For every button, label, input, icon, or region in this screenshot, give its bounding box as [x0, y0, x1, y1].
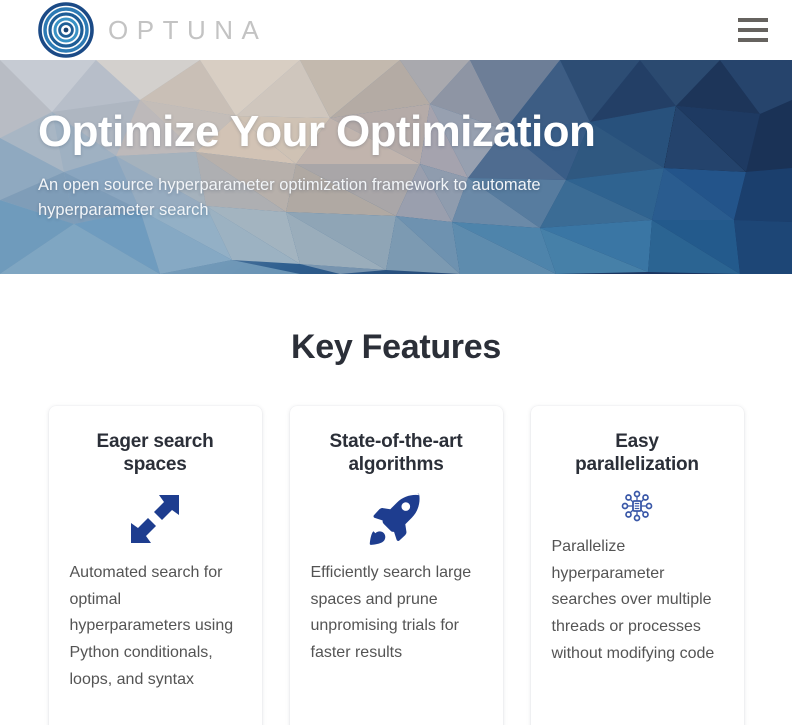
site-header: OPTUNA — [0, 0, 792, 60]
hamburger-bar-1 — [738, 18, 768, 22]
network-nodes-icon — [552, 486, 723, 526]
feature-card-title: Eager search spaces — [70, 430, 241, 476]
key-features-section: Key Features Eager search spaces Automat… — [0, 274, 792, 725]
hamburger-bar-3 — [738, 38, 768, 42]
feature-card-state-of-the-art-algorithms[interactable]: State-of-the-art algorithms Efficiently … — [290, 406, 503, 725]
expand-arrows-icon — [70, 490, 241, 548]
hamburger-menu-icon[interactable] — [738, 18, 768, 42]
feature-card-title: Easy parallelization — [552, 430, 723, 476]
feature-card-text: Parallelize hyperparameter searches over… — [552, 534, 723, 667]
optuna-target-logo-icon — [38, 2, 94, 58]
feature-card-text: Efficiently search large spaces and prun… — [311, 560, 482, 666]
rocket-icon — [311, 490, 482, 548]
feature-card-title: State-of-the-art algorithms — [311, 430, 482, 476]
hero-subtitle: An open source hyperparameter optimizati… — [38, 173, 638, 224]
features-section-title: Key Features — [0, 328, 792, 367]
hamburger-bar-2 — [738, 28, 768, 32]
feature-card-easy-parallelization[interactable]: Easy parallelization — [531, 406, 744, 725]
brand-name: OPTUNA — [108, 17, 267, 43]
hero-content: Optimize Your Optimization An open sourc… — [0, 60, 700, 224]
feature-cards-row: Eager search spaces Automated search for… — [0, 406, 792, 725]
hero-banner: Optimize Your Optimization An open sourc… — [0, 60, 792, 274]
feature-card-text: Automated search for optimal hyperparame… — [70, 560, 241, 693]
hero-title: Optimize Your Optimization — [38, 108, 700, 156]
brand-logo-link[interactable]: OPTUNA — [38, 2, 267, 58]
feature-card-eager-search-spaces[interactable]: Eager search spaces Automated search for… — [49, 406, 262, 725]
